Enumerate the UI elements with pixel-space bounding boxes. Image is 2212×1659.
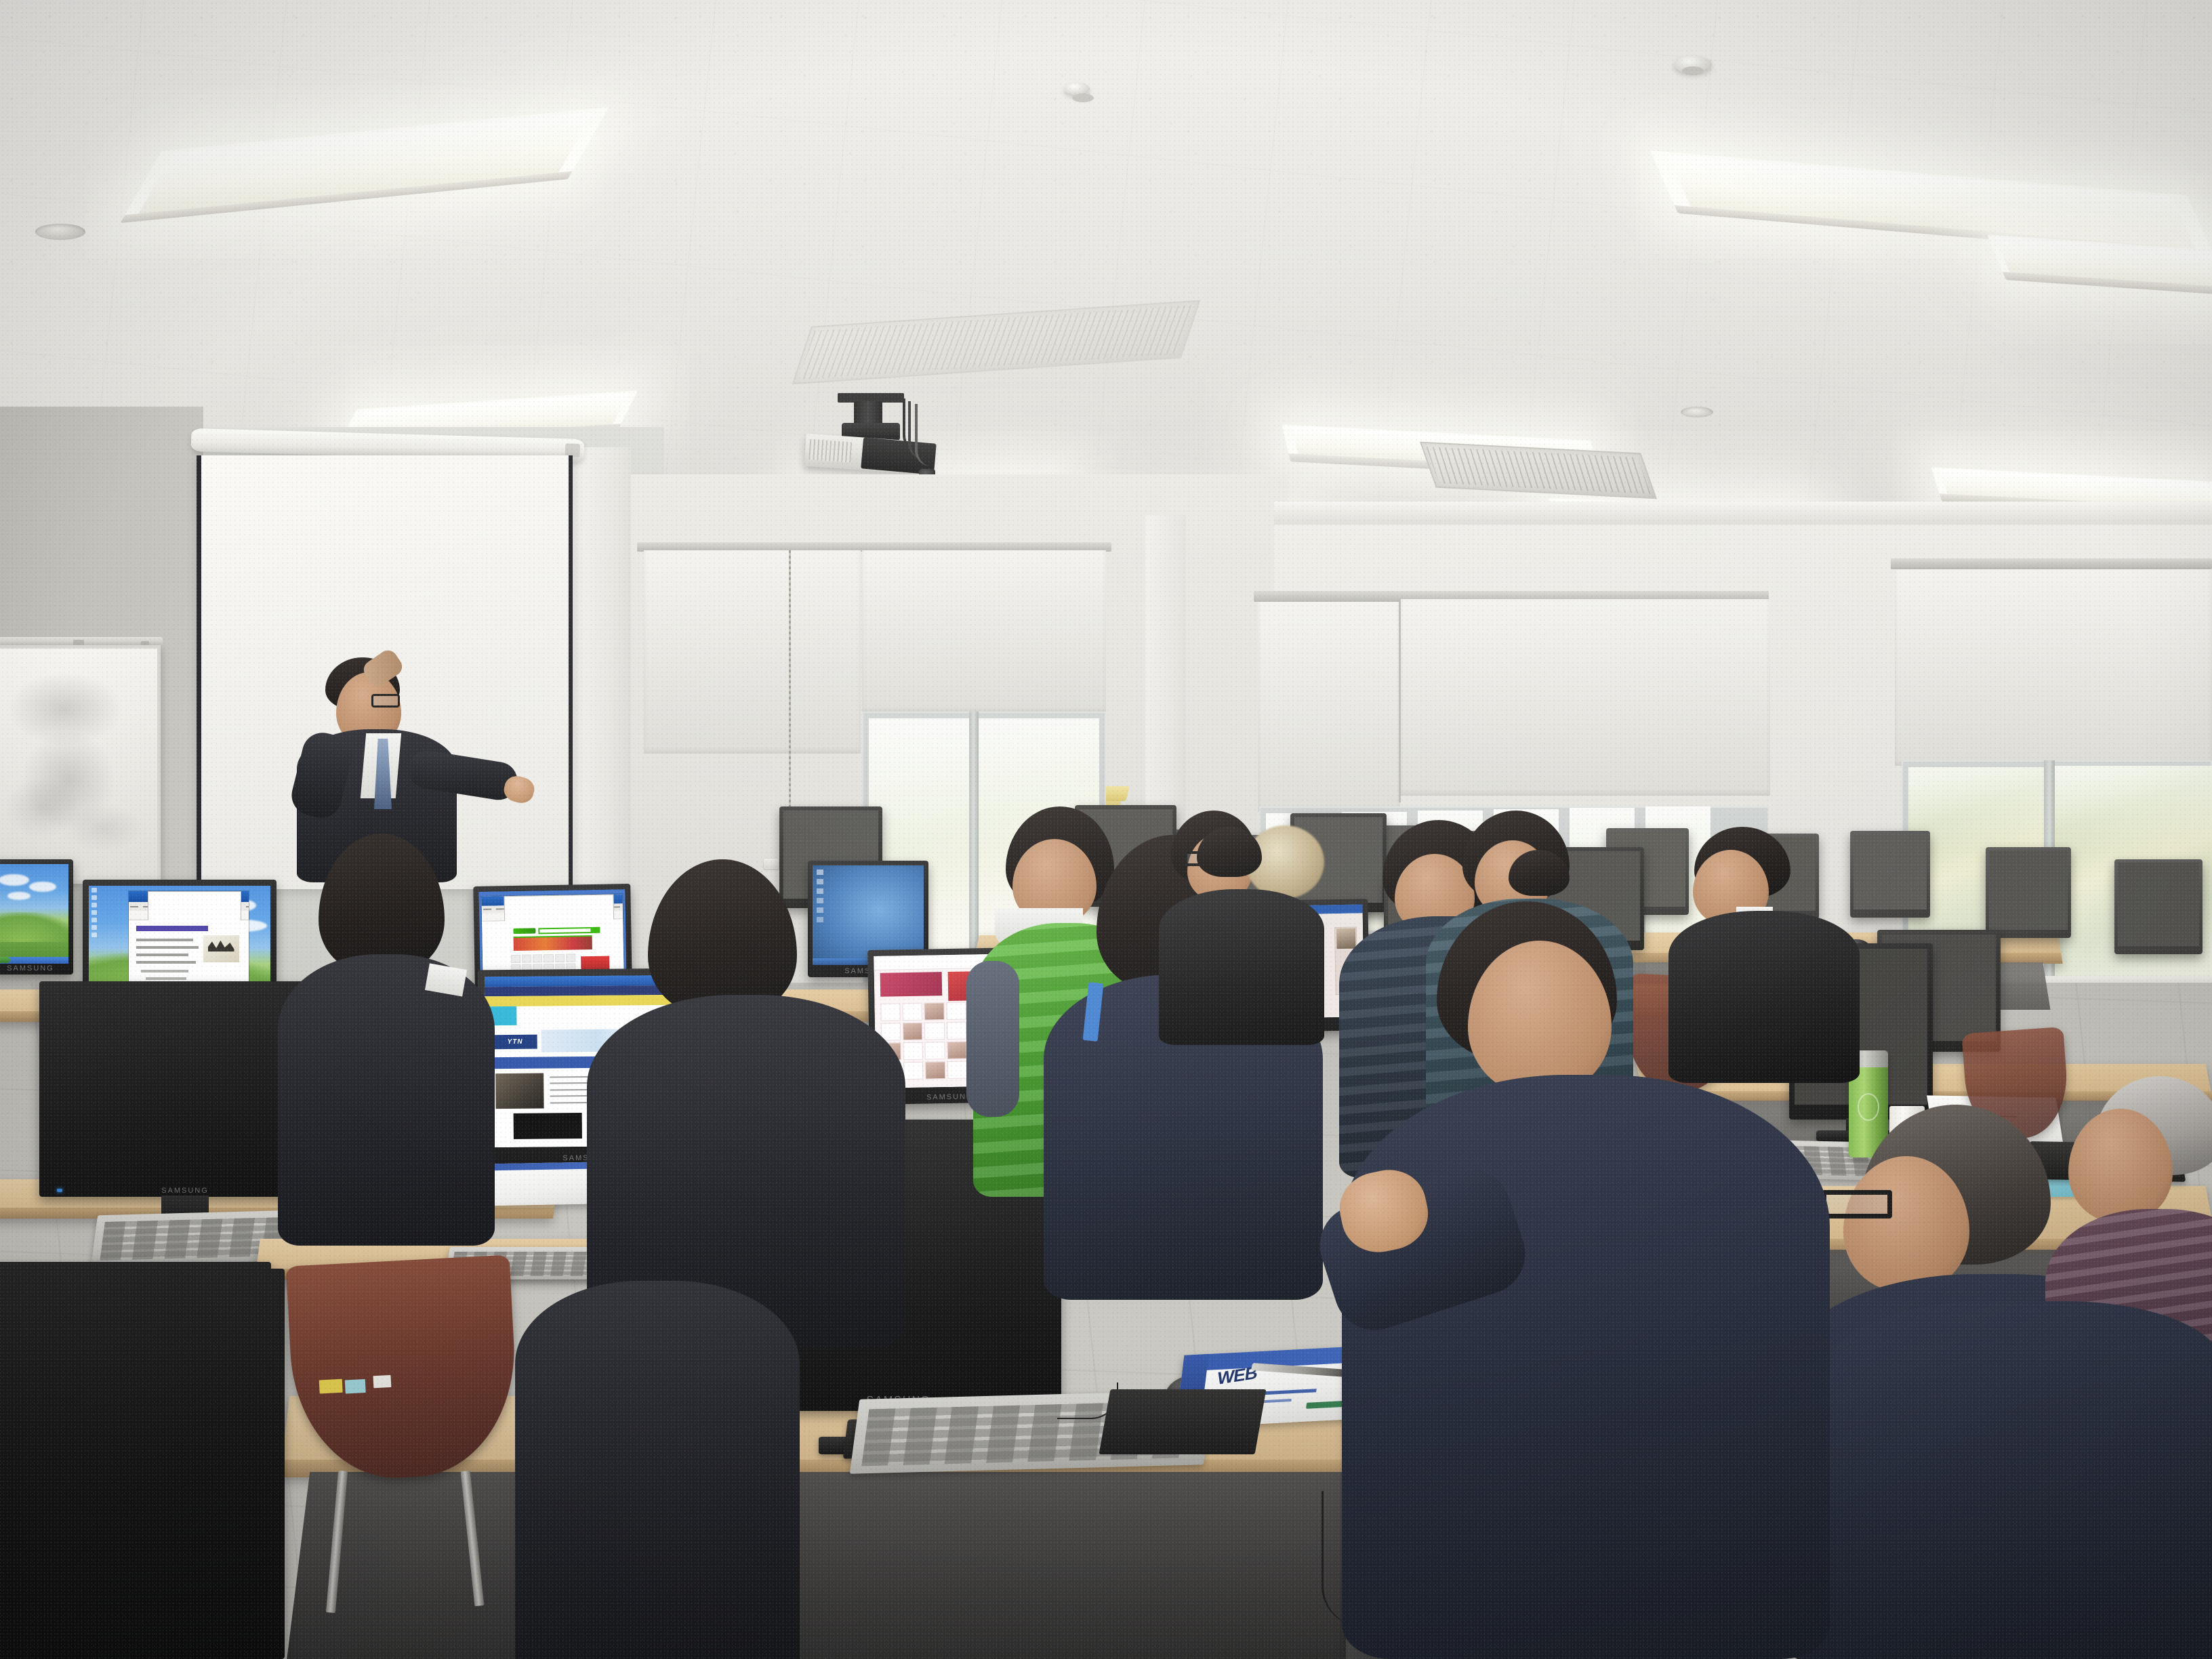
monitor-back-9 bbox=[2114, 859, 2203, 954]
monitor-brand-label-xp: SAMSUNG bbox=[7, 964, 54, 972]
student-front-left bbox=[285, 834, 488, 1240]
student-center-left bbox=[603, 859, 901, 1347]
ytn-video-player[interactable] bbox=[514, 1113, 582, 1139]
portal-logo-icon bbox=[513, 928, 535, 934]
monitor-xp-desktop: SAMSUNG bbox=[0, 859, 73, 975]
projector-cable-3 bbox=[915, 404, 950, 466]
window-blind-right-a bbox=[1258, 602, 1400, 812]
blind-chain-center bbox=[789, 550, 791, 848]
student-right-glasses-icon bbox=[1822, 1190, 1892, 1218]
window-blind-right-b bbox=[1400, 599, 1770, 796]
blind-rail-far-right bbox=[1891, 558, 2212, 569]
student-front-left-torso bbox=[278, 954, 495, 1246]
student-center-left-hair bbox=[648, 859, 797, 1015]
ceiling-speaker-icon bbox=[35, 224, 85, 240]
desk-foreground-center-front bbox=[287, 1472, 1428, 1659]
student-foreground-far-right bbox=[1830, 1301, 2212, 1659]
screen-xp-wallpaper[interactable] bbox=[0, 864, 68, 964]
monitor-foreground-left bbox=[0, 1269, 285, 1659]
student-green-vest-sleeve bbox=[966, 961, 1019, 1117]
classroom-photo-scene: SAMSUNG SAMSUNG bbox=[0, 0, 2212, 1659]
whiteboard bbox=[0, 645, 161, 884]
window-blind-center-2 bbox=[862, 550, 1106, 713]
monitor-brand-front-left: SAMSUNG bbox=[161, 1187, 209, 1195]
mousepad-center-right bbox=[1099, 1389, 1267, 1454]
monitor-back-8 bbox=[1986, 847, 2071, 938]
student-bottom-left bbox=[515, 1281, 800, 1659]
student-fur-hood-jacket bbox=[1159, 889, 1324, 1045]
smoke-detector-secondary-icon bbox=[1064, 83, 1090, 95]
instructor-glasses-icon bbox=[371, 694, 400, 708]
student-foreground-right bbox=[1369, 901, 1816, 1659]
smoke-detector-icon bbox=[1674, 56, 1712, 73]
wall-soffit-right bbox=[1274, 501, 2212, 525]
student-foreground-right-torso bbox=[1342, 1075, 1830, 1659]
portal-search-button[interactable] bbox=[592, 927, 600, 934]
ytn-logo[interactable]: YTN bbox=[493, 1035, 537, 1050]
ceiling-vent-round-icon bbox=[1681, 407, 1713, 417]
student-front-left-hair bbox=[319, 834, 445, 973]
desktop-icons[interactable] bbox=[91, 888, 97, 937]
ytn-article-thumbnail[interactable] bbox=[495, 1073, 544, 1109]
window-blind-center bbox=[644, 550, 861, 754]
window-blind-far-right bbox=[1895, 569, 2212, 766]
blind-seam-right bbox=[1399, 599, 1401, 802]
student-bottom-left-torso bbox=[515, 1281, 800, 1659]
portal-search-input[interactable] bbox=[539, 927, 592, 935]
student-foreground-far-right-torso bbox=[1830, 1301, 2212, 1659]
